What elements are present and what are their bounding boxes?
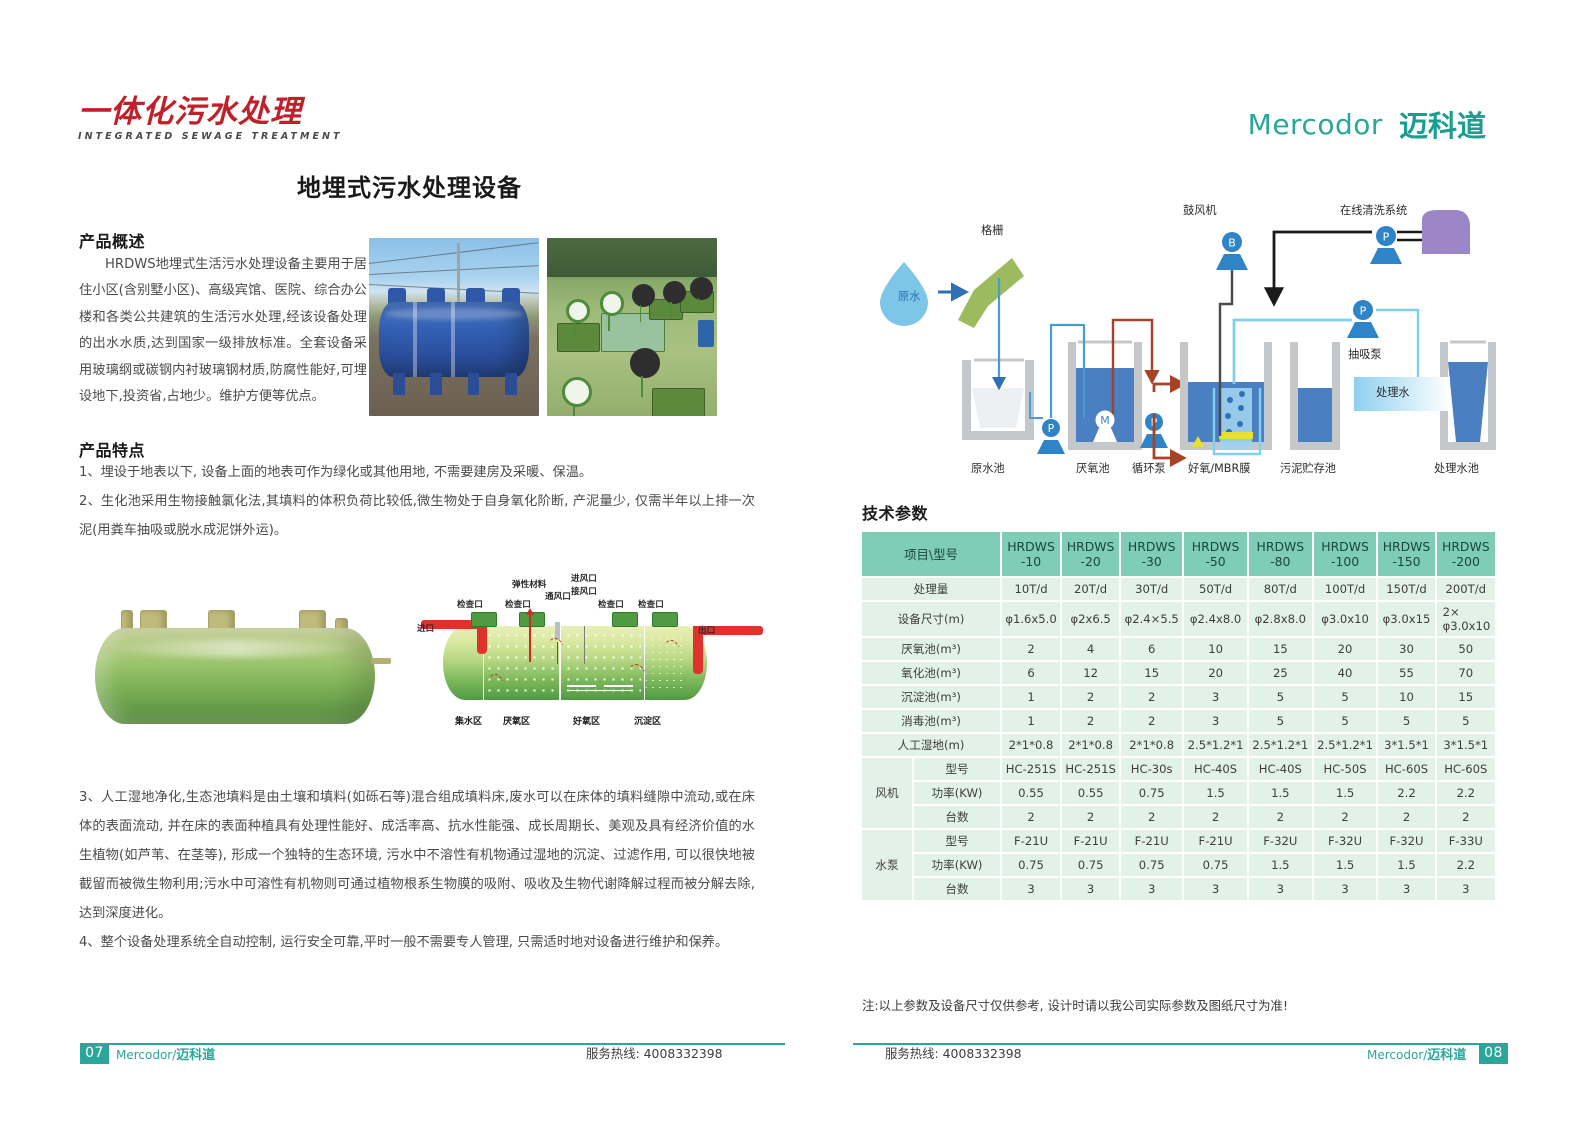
table-row: 人工湿地(m) 2*1*0.8 2*1*0.8 2*1*0.8 2.5*1.2*… — [861, 733, 1496, 757]
label-manhole-2: 检查口 — [505, 598, 531, 610]
footer-brand-en-right: Mercodor — [1367, 1048, 1423, 1062]
cell: 2 — [1061, 685, 1120, 709]
site-sign-3 — [566, 299, 585, 324]
brand-name-english: Mercodor — [1248, 108, 1383, 141]
cell: 3 — [1001, 877, 1061, 901]
cell: φ3.0x10 — [1313, 601, 1378, 637]
cell: 3 — [1248, 877, 1313, 901]
cell: 5 — [1313, 709, 1378, 733]
raw-water-tank — [972, 388, 1024, 428]
site-sign-4 — [600, 291, 619, 316]
elastic-media-arrow — [529, 614, 531, 662]
logo-chinese-text: 一体化污水处理 — [78, 96, 348, 129]
cell: 5 — [1377, 709, 1435, 733]
row-label-wetland: 人工湿地(m) — [861, 733, 1001, 757]
cell: 25 — [1248, 661, 1313, 685]
cell: 50 — [1436, 637, 1496, 661]
cell: 1.5 — [1313, 853, 1378, 877]
label-outlet: 出口 — [698, 624, 715, 636]
section-heading-overview: 产品概述 — [79, 228, 145, 252]
cell: 10T/d — [1001, 577, 1061, 601]
cell: 12 — [1061, 661, 1120, 685]
manhole-3 — [612, 612, 638, 627]
bar-screen-icon — [958, 258, 1024, 328]
feature-item-3: 3、人工湿地净化,生态池填料是由土壤和填料(如砾石等)混合组成填料床,废水可以在… — [79, 783, 755, 928]
brand-name-chinese: 迈科道 — [1399, 103, 1486, 145]
cell: 40 — [1313, 661, 1378, 685]
cell: 2 — [1061, 709, 1120, 733]
cell: 2.5*1.2*1 — [1248, 733, 1313, 757]
cell: 15 — [1120, 661, 1183, 685]
table-col-header-4: HRDWS-80 — [1248, 531, 1313, 577]
manhole-1 — [471, 612, 497, 627]
cell: 6 — [1001, 661, 1061, 685]
flow-label-anaerobic-tank: 厌氧池 — [1076, 460, 1110, 476]
process-flow-svg: P M P — [862, 192, 1496, 484]
cell: 5 — [1436, 709, 1496, 733]
product-photo-gallery — [369, 238, 717, 416]
table-col-header-2: HRDWS-30 — [1120, 531, 1183, 577]
cell: 2 — [1120, 685, 1183, 709]
flow-label-circulation-pump: 循环泵 — [1132, 460, 1166, 476]
cell: HC-40S — [1248, 757, 1313, 781]
cell: 55 — [1377, 661, 1435, 685]
cell: HC-30s — [1120, 757, 1183, 781]
cell: 3*1.5*1 — [1377, 733, 1435, 757]
table-body: 处理量 10T/d 20T/d 30T/d 50T/d 80T/d 100T/d… — [861, 577, 1496, 901]
cell: 10 — [1377, 685, 1435, 709]
cell: 0.75 — [1061, 853, 1120, 877]
flow-label-raw-water-tank: 原水池 — [971, 460, 1005, 476]
cell: 15 — [1436, 685, 1496, 709]
cell: 0.55 — [1001, 781, 1061, 805]
mbr-membrane-module — [1220, 388, 1252, 450]
table-col-header-3: HRDWS-50 — [1183, 531, 1248, 577]
cip-vessel-icon — [1422, 210, 1470, 254]
cell: 0.75 — [1001, 853, 1061, 877]
table-col-header-6: HRDWS-150 — [1377, 531, 1435, 577]
footer-brand-cn-left: 迈科道 — [176, 1048, 215, 1063]
label-manhole-4: 检查口 — [638, 598, 664, 610]
cell: 2 — [1061, 805, 1120, 829]
table-header-row: 项目\型号 HRDWS-10 HRDWS-20 HRDWS-30 HRDWS-5… — [861, 531, 1496, 577]
equipment-illustration-group: 进口 检查口 检查口 弹性材料 通风口 进风口 接风口 检查口 检查口 出口 集… — [79, 580, 769, 755]
svg-text:P: P — [1383, 231, 1390, 244]
product-line-logo: 一体化污水处理 INTEGRATED SEWAGE TREATMENT — [78, 96, 348, 142]
footer-brand-left: Mercodor/迈科道 — [116, 1044, 215, 1063]
cell: 3 — [1183, 877, 1248, 901]
table-col-header-5: HRDWS-100 — [1313, 531, 1378, 577]
cell: 1.5 — [1248, 853, 1313, 877]
flow-label-raw-water-drop: 原水 — [898, 288, 920, 304]
cell: 2 — [1120, 805, 1183, 829]
cell: 4 — [1061, 637, 1120, 661]
table-row: 沉淀池(m³) 1 2 2 3 5 5 10 15 — [861, 685, 1496, 709]
table-row: 厌氧池(m³) 2 4 6 10 15 20 30 50 — [861, 637, 1496, 661]
feature-item-4: 4、整个设备处理系统全自动控制, 运行安全可靠,平时一般不需要专人管理, 只需适… — [79, 928, 755, 957]
cell: HC-50S — [1313, 757, 1378, 781]
cell: φ1.6x5.0 — [1001, 601, 1061, 637]
cell: 2 — [1001, 805, 1061, 829]
air-inlet-lead — [584, 626, 585, 664]
row-label-pump-model: 型号 — [913, 829, 1001, 853]
page-number-right: 08 — [1479, 1043, 1508, 1064]
cell: 1 — [1001, 685, 1061, 709]
zone-label-collection: 集水区 — [455, 714, 482, 727]
section-heading-tech-params: 技术参数 — [862, 500, 928, 524]
cell: 150T/d — [1377, 577, 1435, 601]
cell: 2.2 — [1436, 781, 1496, 805]
cell: 2 — [1183, 805, 1248, 829]
row-label-pump-power: 功率(KW) — [913, 853, 1001, 877]
footer-hotline-right: 服务热线: 4008332398 — [885, 1044, 1022, 1062]
photo-buried-blue-tank — [369, 238, 539, 416]
treated-water-tank — [1448, 362, 1488, 442]
table-row: 氧化池(m³) 6 12 15 20 25 40 55 70 — [861, 661, 1496, 685]
logo-english-text: INTEGRATED SEWAGE TREATMENT — [78, 131, 348, 142]
manhole-4 — [652, 612, 678, 627]
group-label-waterpump: 水泵 — [861, 829, 913, 901]
cell: 0.75 — [1183, 853, 1248, 877]
cell: 70 — [1436, 661, 1496, 685]
site-sign-7 — [690, 277, 707, 300]
group-label-blower: 风机 — [861, 757, 913, 829]
cell: 100T/d — [1313, 577, 1378, 601]
cell: φ2x6.5 — [1061, 601, 1120, 637]
cell: 1.5 — [1377, 853, 1435, 877]
cell: 50T/d — [1183, 577, 1248, 601]
cell: 80T/d — [1248, 577, 1313, 601]
label-vent: 通风口 — [545, 590, 571, 602]
cell: 2×φ3.0x10 — [1436, 601, 1496, 637]
label-inlet: 进口 — [417, 622, 434, 634]
cell: 0.75 — [1120, 853, 1183, 877]
flow-label-sludge-tank: 污泥贮存池 — [1280, 460, 1336, 476]
site-sign-regulation — [630, 348, 654, 378]
cell: 2.2 — [1377, 781, 1435, 805]
table-row: 台数 3 3 3 3 3 3 3 3 — [861, 877, 1496, 901]
label-elastic-media: 弹性材料 — [512, 578, 546, 590]
cell: F-32U — [1248, 829, 1313, 853]
cell: 1 — [1001, 709, 1061, 733]
cell: 2 — [1377, 805, 1435, 829]
zone-label-anaerobic: 厌氧区 — [503, 714, 530, 727]
cell: φ3.0x15 — [1377, 601, 1435, 637]
cell: φ2.4×5.5 — [1120, 601, 1183, 637]
table-col-header-0: HRDWS-10 — [1001, 531, 1061, 577]
row-label-capacity: 处理量 — [861, 577, 1001, 601]
site-sign-6 — [663, 281, 680, 304]
cell: 2.5*1.2*1 — [1313, 733, 1378, 757]
flow-label-blower: 鼓风机 — [1183, 202, 1217, 218]
table-row: 设备尺寸(m) φ1.6x5.0 φ2x6.5 φ2.4×5.5 φ2.4x8.… — [861, 601, 1496, 637]
row-label-blower-model: 型号 — [913, 757, 1001, 781]
row-label-sedimentation: 沉淀池(m³) — [861, 685, 1001, 709]
cell: 2.2 — [1436, 853, 1496, 877]
table-row: 台数 2 2 2 2 2 2 2 2 — [861, 805, 1496, 829]
cell: 5 — [1248, 709, 1313, 733]
table-note: 注:以上参数及设备尺寸仅供参考, 设计时请以我公司实际参数及图纸尺寸为准! — [862, 996, 1288, 1014]
cell: 200T/d — [1436, 577, 1496, 601]
cell: 3*1.5*1 — [1436, 733, 1496, 757]
table-col-header-1: HRDWS-20 — [1061, 531, 1120, 577]
cell: 2*1*0.8 — [1061, 733, 1120, 757]
cell: 0.75 — [1120, 781, 1183, 805]
cell: 5 — [1313, 685, 1378, 709]
row-label-dimensions: 设备尺寸(m) — [861, 601, 1001, 637]
table-row: 消毒池(m³) 1 2 2 3 5 5 5 5 — [861, 709, 1496, 733]
zone-label-aerobic: 好氧区 — [573, 714, 600, 727]
tech-params-table: 项目\型号 HRDWS-10 HRDWS-20 HRDWS-30 HRDWS-5… — [860, 530, 1497, 902]
cell: HC-60S — [1436, 757, 1496, 781]
cell: 2.5*1.2*1 — [1183, 733, 1248, 757]
cell: 3 — [1183, 709, 1248, 733]
row-label-blower-qty: 台数 — [913, 805, 1001, 829]
cutaway-diagram: 进口 检查口 检查口 弹性材料 通风口 进风口 接风口 检查口 检查口 出口 集… — [399, 586, 765, 748]
flow-label-cip-system: 在线清洗系统 — [1340, 202, 1407, 218]
zone-label-sedimentation: 沉淀区 — [634, 714, 661, 727]
cell: 6 — [1120, 637, 1183, 661]
flow-label-treated-water-tank: 处理水池 — [1434, 460, 1479, 476]
label-manhole-3: 检查口 — [598, 598, 624, 610]
flow-label-suction-pump: 抽吸泵 — [1348, 346, 1382, 362]
cell: φ2.4x8.0 — [1183, 601, 1248, 637]
cell: F-33U — [1436, 829, 1496, 853]
svg-text:P: P — [1048, 422, 1055, 435]
cell: 2 — [1248, 805, 1313, 829]
cell: F-21U — [1120, 829, 1183, 853]
cell: 0.55 — [1061, 781, 1120, 805]
overview-paragraph: HRDWS地埋式生活污水处理设备主要用于居住小区(含别墅小区)、高级宾馆、医院、… — [79, 252, 367, 410]
svg-text:B: B — [1228, 237, 1236, 250]
feature-item-1: 1、埋设于地表以下, 设备上面的地表可作为绿化或其他用地, 不需要建房及采暖、保… — [79, 458, 755, 487]
table-row: 水泵 型号 F-21U F-21U F-21U F-21U F-32U F-32… — [861, 829, 1496, 853]
cell: 3 — [1061, 877, 1120, 901]
svg-text:M: M — [1100, 414, 1110, 427]
cell: 2 — [1001, 637, 1061, 661]
cell: 20 — [1313, 637, 1378, 661]
flow-label-treated-water: 处理水 — [1376, 384, 1410, 400]
cell: F-21U — [1183, 829, 1248, 853]
page-number-left: 07 — [80, 1043, 109, 1064]
frp-tank-photo — [95, 602, 375, 727]
row-label-pump-qty: 台数 — [913, 877, 1001, 901]
table-row: 处理量 10T/d 20T/d 30T/d 50T/d 80T/d 100T/d… — [861, 577, 1496, 601]
footer-brand-en-left: Mercodor — [116, 1048, 172, 1062]
cell: 3 — [1313, 877, 1378, 901]
label-air-connector: 接风口 — [571, 585, 597, 597]
cell: 1.5 — [1313, 781, 1378, 805]
table-corner-header: 项目\型号 — [861, 531, 1001, 577]
cell: 2 — [1120, 709, 1183, 733]
site-sign-5 — [632, 284, 649, 307]
cell: 2*1*0.8 — [1120, 733, 1183, 757]
cell: 30 — [1377, 637, 1435, 661]
company-brand: Mercodor 迈科道 — [1248, 103, 1486, 145]
cell: F-21U — [1061, 829, 1120, 853]
table-row: 功率(KW) 0.75 0.75 0.75 0.75 1.5 1.5 1.5 2… — [861, 853, 1496, 877]
footer-brand-right: Mercodor/迈科道 — [1367, 1044, 1466, 1063]
row-label-anaerobic: 厌氧池(m³) — [861, 637, 1001, 661]
flow-label-grating: 格栅 — [981, 222, 1003, 238]
sludge-storage-tank — [1298, 388, 1332, 442]
table-row: 风机 型号 HC-251S HC-251S HC-30s HC-40S HC-4… — [861, 757, 1496, 781]
cell: 30T/d — [1120, 577, 1183, 601]
cell: 2 — [1313, 805, 1378, 829]
row-label-disinfection: 消毒池(m³) — [861, 709, 1001, 733]
diffuser-plate — [1219, 432, 1253, 439]
cell: 3 — [1436, 877, 1496, 901]
cell: φ2.8x8.0 — [1248, 601, 1313, 637]
table-header: 项目\型号 HRDWS-10 HRDWS-20 HRDWS-30 HRDWS-5… — [861, 531, 1496, 577]
svg-text:P: P — [1360, 305, 1367, 318]
cell: HC-251S — [1061, 757, 1120, 781]
cell: 10 — [1183, 637, 1248, 661]
cell: 3 — [1120, 877, 1183, 901]
cell: 3 — [1377, 877, 1435, 901]
page-title: 地埋式污水处理设备 — [297, 168, 522, 203]
cell: HC-40S — [1183, 757, 1248, 781]
label-air-inlet: 进风口 — [571, 572, 597, 584]
feature-item-2: 2、生化池采用生物接触氯化法,其填料的体积负荷比较低,微生物处于自身氧化阶断, … — [79, 487, 755, 545]
process-flow-diagram: P M P — [862, 192, 1496, 484]
cell: 2*1*0.8 — [1001, 733, 1061, 757]
cell: 1.5 — [1248, 781, 1313, 805]
features-list: 1、埋设于地表以下, 设备上面的地表可作为绿化或其他用地, 不需要建房及采暖、保… — [79, 458, 755, 545]
row-label-blower-power: 功率(KW) — [913, 781, 1001, 805]
flow-label-aerobic-mbr: 好氧/MBR膜 — [1188, 460, 1250, 476]
cell: 3 — [1183, 685, 1248, 709]
footer-brand-cn-right: 迈科道 — [1427, 1048, 1466, 1063]
cell: 2 — [1436, 805, 1496, 829]
cell: 15 — [1248, 637, 1313, 661]
cell: F-32U — [1313, 829, 1378, 853]
cell: 20T/d — [1061, 577, 1120, 601]
table-row: 功率(KW) 0.55 0.55 0.75 1.5 1.5 1.5 2.2 2.… — [861, 781, 1496, 805]
cell: HC-60S — [1377, 757, 1435, 781]
cell: 20 — [1183, 661, 1248, 685]
cell: 5 — [1248, 685, 1313, 709]
brochure-page: 一体化污水处理 INTEGRATED SEWAGE TREATMENT Merc… — [0, 0, 1588, 1123]
cell: 1.5 — [1183, 781, 1248, 805]
site-sign-anaerobic — [562, 377, 586, 407]
label-manhole-1: 检查口 — [457, 598, 483, 610]
cell: F-32U — [1377, 829, 1435, 853]
row-label-oxidation: 氧化池(m³) — [861, 661, 1001, 685]
cell: F-21U — [1001, 829, 1061, 853]
photo-installed-site-lawn — [547, 238, 717, 416]
table-col-header-7: HRDWS-200 — [1436, 531, 1496, 577]
additional-features-list: 3、人工湿地净化,生态池填料是由土壤和填料(如砾石等)混合组成填料床,废水可以在… — [79, 783, 755, 957]
cell: HC-251S — [1001, 757, 1061, 781]
footer-hotline-left: 服务热线: 4008332398 — [586, 1044, 723, 1062]
